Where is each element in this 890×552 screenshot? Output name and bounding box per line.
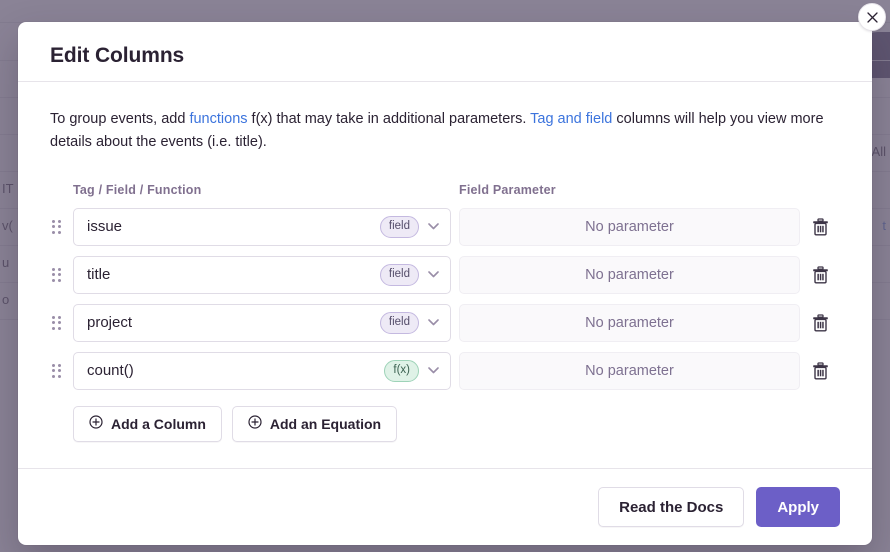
drag-handle-icon[interactable]	[50, 268, 73, 282]
delete-row-button-1[interactable]	[800, 266, 840, 284]
description-part-2: f(x) that may take in additional paramet…	[248, 111, 531, 127]
add-column-button[interactable]: Add a Column	[73, 406, 222, 442]
column-value: title	[87, 266, 380, 283]
type-badge: field	[380, 264, 419, 287]
header-tag-field-function-wrap: Tag / Field / Function	[73, 181, 459, 199]
columns-grid: Tag / Field / Function Field Parameter i…	[50, 181, 840, 442]
delete-row-button-2[interactable]	[800, 314, 840, 332]
type-badge: field	[380, 216, 419, 239]
parameter-value: No parameter	[585, 267, 674, 283]
tag-and-field-link[interactable]: Tag and field	[530, 111, 612, 127]
plus-circle-icon	[89, 415, 103, 432]
header-field-parameter: Field Parameter	[459, 183, 556, 197]
column-select-3[interactable]: count() f(x)	[73, 352, 451, 390]
type-badge: field	[380, 312, 419, 335]
read-the-docs-button[interactable]: Read the Docs	[598, 487, 744, 527]
header-tag-field-function: Tag / Field / Function	[73, 183, 201, 197]
table-row: count() f(x) No parameter	[50, 352, 840, 390]
parameter-field-2: No parameter	[459, 304, 800, 342]
column-select-0[interactable]: issue field	[73, 208, 451, 246]
modal-header: Edit Columns	[18, 22, 872, 82]
chevron-down-icon	[425, 271, 441, 278]
table-row: title field No parameter	[50, 256, 840, 294]
page-title: Edit Columns	[50, 44, 840, 68]
chevron-down-icon	[425, 223, 441, 230]
column-value: project	[87, 314, 380, 331]
type-badge: f(x)	[384, 360, 419, 383]
functions-link[interactable]: functions	[189, 111, 247, 127]
table-row: issue field No parameter	[50, 208, 840, 246]
description-part-1: To group events, add	[50, 111, 189, 127]
close-modal-button[interactable]	[858, 3, 886, 31]
add-column-label: Add a Column	[111, 416, 206, 432]
table-row: project field No parameter	[50, 304, 840, 342]
column-headers: Tag / Field / Function Field Parameter	[50, 181, 840, 199]
column-value: count()	[87, 362, 384, 379]
delete-row-button-3[interactable]	[800, 362, 840, 380]
modal-body: To group events, add functions f(x) that…	[18, 82, 872, 468]
description-text: To group events, add functions f(x) that…	[50, 108, 840, 155]
chevron-down-icon	[425, 319, 441, 326]
column-select-1[interactable]: title field	[73, 256, 451, 294]
parameter-field-3: No parameter	[459, 352, 800, 390]
apply-button[interactable]: Apply	[756, 487, 840, 527]
modal-footer: Read the Docs Apply	[18, 468, 872, 545]
drag-handle-icon[interactable]	[50, 220, 73, 234]
parameter-field-0: No parameter	[459, 208, 800, 246]
header-field-parameter-wrap: Field Parameter	[459, 181, 840, 199]
drag-handle-icon[interactable]	[50, 316, 73, 330]
edit-columns-modal: Edit Columns To group events, add functi…	[18, 22, 872, 545]
close-icon	[867, 12, 878, 23]
delete-row-button-0[interactable]	[800, 218, 840, 236]
add-actions: Add a Column Add an Equation	[50, 406, 840, 442]
parameter-value: No parameter	[585, 315, 674, 331]
plus-circle-icon	[248, 415, 262, 432]
parameter-value: No parameter	[585, 219, 674, 235]
drag-handle-icon[interactable]	[50, 364, 73, 378]
add-equation-button[interactable]: Add an Equation	[232, 406, 397, 442]
chevron-down-icon	[425, 367, 441, 374]
add-equation-label: Add an Equation	[270, 416, 381, 432]
column-select-2[interactable]: project field	[73, 304, 451, 342]
parameter-value: No parameter	[585, 363, 674, 379]
column-value: issue	[87, 218, 380, 235]
parameter-field-1: No parameter	[459, 256, 800, 294]
